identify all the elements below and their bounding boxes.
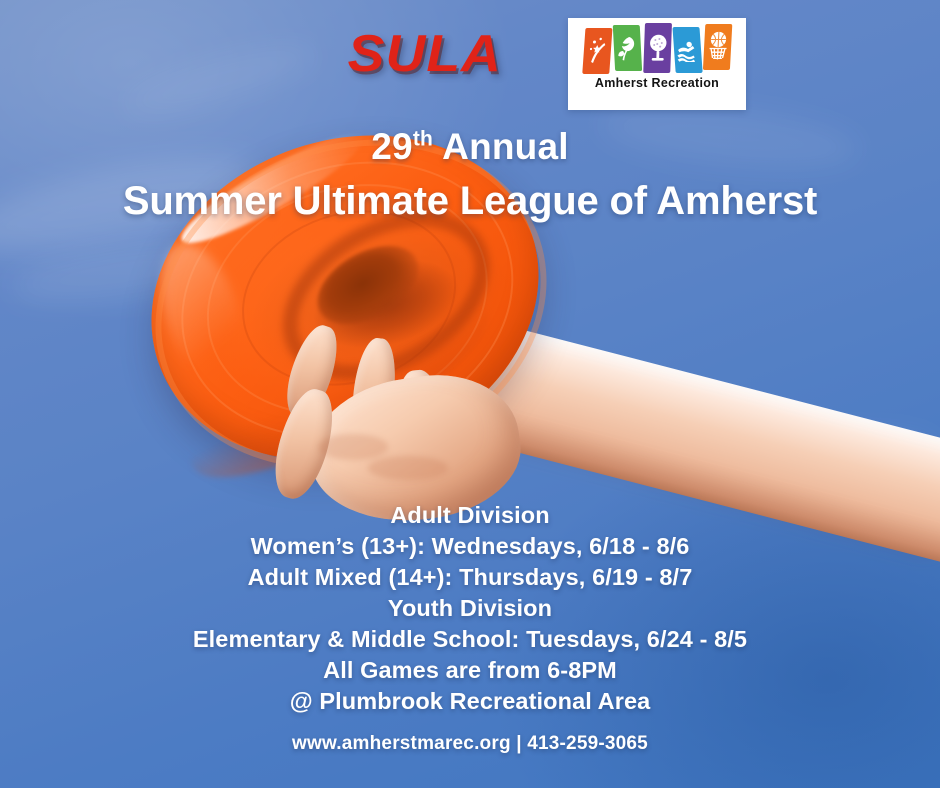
swimmer-icon	[672, 27, 702, 73]
poster-canvas: SULA	[0, 0, 940, 788]
fireworks-icon	[582, 28, 612, 74]
annual-title: 29th Annual	[0, 126, 940, 167]
amherst-recreation-label: Amherst Recreation	[568, 76, 746, 90]
detail-line: All Games are from 6-8PM	[0, 655, 940, 686]
annual-word: Annual	[433, 126, 569, 167]
knuckle-shading	[368, 456, 448, 480]
detail-line: Women’s (13+): Wednesdays, 6/18 - 8/6	[0, 531, 940, 562]
detail-line: Youth Division	[0, 593, 940, 624]
leaf-icon	[613, 25, 642, 71]
title-block: 29th Annual Summer Ultimate League of Am…	[0, 126, 940, 224]
detail-line: Adult Mixed (14+): Thursdays, 6/19 - 8/7	[0, 562, 940, 593]
sula-wordmark: SULA	[348, 24, 502, 84]
poster-header: SULA	[0, 0, 940, 120]
annual-number: 29	[371, 126, 413, 167]
schedule-details: Adult Division Women’s (13+): Wednesdays…	[0, 500, 940, 717]
contact-footer: www.amherstmarec.org | 413-259-3065	[0, 733, 940, 755]
detail-line: Adult Division	[0, 500, 940, 531]
knuckle-shading	[318, 434, 388, 460]
hand-photo	[258, 316, 558, 526]
detail-line: @ Plumbrook Recreational Area	[0, 686, 940, 717]
league-title: Summer Ultimate League of Amherst	[0, 179, 940, 224]
basketball-hoop-icon	[703, 24, 732, 70]
detail-line: Elementary & Middle School: Tuesdays, 6/…	[0, 624, 940, 655]
logo-panel-strip	[584, 26, 732, 74]
ordinal-suffix: th	[413, 128, 433, 151]
golf-ball-tee-icon	[643, 23, 672, 73]
amherst-recreation-logo: Amherst Recreation	[568, 18, 746, 110]
